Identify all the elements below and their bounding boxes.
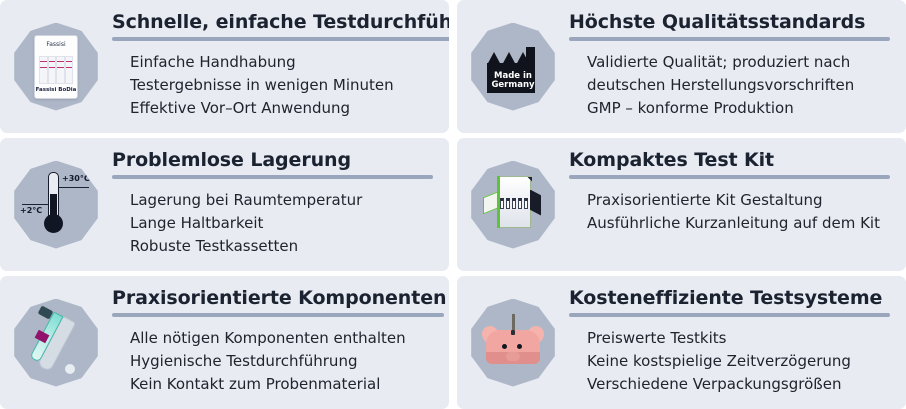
icon-badge: +30°C +2°C <box>12 161 100 249</box>
thermometer-high-label: +30°C <box>62 174 90 183</box>
cassette-strip <box>39 56 48 84</box>
cassette-brand-text: Fassisi BoDia <box>35 87 77 93</box>
kit-strip <box>506 198 510 209</box>
piggy-coin-slot <box>511 330 515 335</box>
icon-column: +30°C +2°C <box>0 138 112 271</box>
list-item: GMP – konforme Produktion <box>587 97 892 120</box>
icon-badge <box>12 299 100 387</box>
piggy-eye-left <box>502 344 507 349</box>
list-item: Preiswerte Testkits <box>587 327 892 350</box>
card-title: Höchste Qualitätsstandards <box>569 10 892 34</box>
card-title: Problemlose Lagerung <box>112 148 435 172</box>
card-content: Kompaktes Test Kit Praxisorientierte Kit… <box>569 138 906 235</box>
list-item: Alle nötigen Komponenten enthalten <box>130 327 446 350</box>
list-item: Robuste Testkassetten <box>130 235 435 258</box>
list-item: Testergebnisse in wenigen Minuten <box>130 74 449 97</box>
icon-column <box>0 276 112 409</box>
kit-flap <box>530 190 541 216</box>
card-bullet-list: Einfache Handhabung Testergebnisse in we… <box>112 51 449 120</box>
list-item: Keine kostspielige Zeitverzögerung <box>587 350 892 373</box>
list-item: Effektive Vor–Ort Anwendung <box>130 97 449 120</box>
factory-label: Made in Germany <box>489 72 537 91</box>
icon-badge <box>469 161 557 249</box>
test-kit-box-icon <box>483 176 543 234</box>
list-item: Lange Haltbarkeit <box>130 212 435 235</box>
piggy-bank-icon <box>480 314 546 372</box>
made-in-germany-factory-icon: Made in Germany <box>485 41 541 93</box>
kit-test-strips <box>500 198 528 209</box>
feature-card-hoechste-qualitaetsstandards: Made in Germany Höchste Qualitätsstandar… <box>457 0 906 133</box>
icon-column: Made in Germany <box>457 0 569 133</box>
card-content: Höchste Qualitätsstandards Validierte Qu… <box>569 0 906 120</box>
factory-label-line2: Germany <box>491 80 534 90</box>
feature-card-schnelle-einfache-testdurchfuehrung: Fassisi Fassisi BoDia Schnelle, einfache… <box>0 0 449 133</box>
piggy-eye-right <box>517 344 522 349</box>
tube-tip <box>65 364 75 374</box>
icon-badge: Made in Germany <box>469 23 557 111</box>
card-content: Schnelle, einfache Testdurchführung Einf… <box>112 0 449 120</box>
cassette-strip <box>56 56 65 84</box>
card-bullet-list: Preiswerte Testkits Keine kostspielige Z… <box>569 327 892 396</box>
list-item: deutschen Herstellungsvorschriften <box>587 74 892 97</box>
test-cassette-icon: Fassisi Fassisi BoDia <box>34 35 78 99</box>
kit-strip <box>524 198 528 209</box>
list-item: Hygienische Testdurchführung <box>130 350 446 373</box>
list-item: Lagerung bei Raumtemperatur <box>130 189 435 212</box>
feature-card-problemlose-lagerung: +30°C +2°C Problemlose Lagerung Lagerung… <box>0 138 449 271</box>
list-item: Validierte Qualität; produziert nach <box>587 51 892 74</box>
card-title: Praxisorientierte Komponenten <box>112 286 446 310</box>
kit-strip <box>512 198 516 209</box>
thermometer-low-label: +2°C <box>20 206 42 215</box>
list-item: Einfache Handhabung <box>130 51 449 74</box>
thermometer-upper-tick <box>59 187 89 189</box>
icon-column <box>457 276 569 409</box>
icon-badge <box>469 299 557 387</box>
feature-card-praxisorientierte-komponenten: Praxisorientierte Komponenten Alle nötig… <box>0 276 449 409</box>
piggy-coin <box>512 314 515 332</box>
card-title: Kosteneffiziente Testsysteme <box>569 286 892 310</box>
title-divider <box>112 313 444 317</box>
cassette-strips <box>39 56 73 82</box>
list-item: Ausführliche Kurzanleitung auf dem Kit <box>587 212 892 235</box>
icon-column: Fassisi Fassisi BoDia <box>0 0 112 133</box>
card-bullet-list: Praxisorientierte Kit Gestaltung Ausführ… <box>569 189 892 235</box>
title-divider <box>112 37 449 41</box>
kit-strip <box>518 198 522 209</box>
cassette-logo-text: Fassisi <box>35 41 77 48</box>
piggy-snout <box>506 352 520 361</box>
card-content: Problemlose Lagerung Lagerung bei Raumte… <box>112 138 449 258</box>
card-content: Kosteneffiziente Testsysteme Preiswerte … <box>569 276 906 396</box>
sample-tube-icon <box>19 306 93 380</box>
feature-card-kompaktes-test-kit: Kompaktes Test Kit Praxisorientierte Kit… <box>457 138 906 271</box>
card-bullet-list: Lagerung bei Raumtemperatur Lange Haltba… <box>112 189 435 258</box>
card-title: Kompaktes Test Kit <box>569 148 892 172</box>
card-bullet-list: Alle nötigen Komponenten enthalten Hygie… <box>112 327 446 396</box>
icon-badge: Fassisi Fassisi BoDia <box>12 23 100 111</box>
title-divider <box>569 313 890 317</box>
feature-card-grid: Fassisi Fassisi BoDia Schnelle, einfache… <box>0 0 906 409</box>
cassette-strip <box>65 56 74 84</box>
card-title: Schnelle, einfache Testdurchführung <box>112 10 449 34</box>
list-item: Verschiedene Verpackungsgrößen <box>587 373 892 396</box>
icon-column <box>457 138 569 271</box>
feature-card-kosteneffiziente-testsysteme: Kosteneffiziente Testsysteme Preiswerte … <box>457 276 906 409</box>
thermometer-bulb <box>44 214 63 233</box>
cassette-strip <box>48 56 57 84</box>
kit-strip <box>500 198 504 209</box>
title-divider <box>112 175 433 179</box>
title-divider <box>569 175 890 179</box>
factory-label-line1: Made in <box>494 71 532 81</box>
list-item: Praxisorientierte Kit Gestaltung <box>587 189 892 212</box>
list-item: Kein Kontakt zum Probenmaterial <box>130 373 446 396</box>
card-content: Praxisorientierte Komponenten Alle nötig… <box>112 276 449 396</box>
card-bullet-list: Validierte Qualität; produziert nach deu… <box>569 51 892 120</box>
thermometer-icon: +30°C +2°C <box>18 168 94 242</box>
title-divider <box>569 37 890 41</box>
